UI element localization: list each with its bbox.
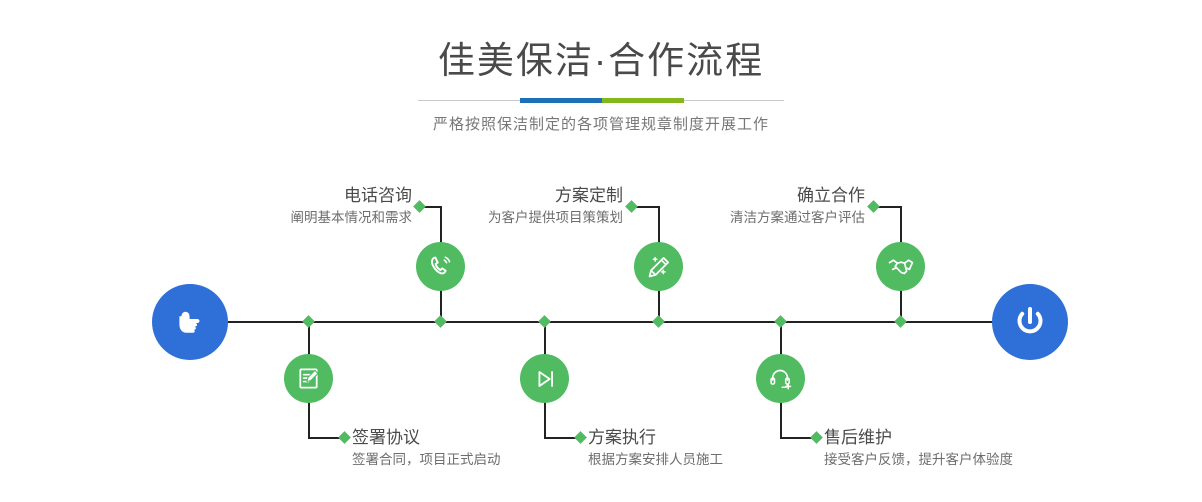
marker-diamond-step-1-axis <box>434 315 447 328</box>
handshake-icon <box>887 253 915 281</box>
step-6-icon-node <box>756 354 805 403</box>
step-5-title: 确立合作 <box>697 185 865 207</box>
play-skip-icon <box>532 366 558 392</box>
step-3-label: 方案定制 为客户提供项目策策划 <box>455 185 623 228</box>
pencil-edit-icon <box>645 253 673 281</box>
process-timeline: 电话咨询 阐明基本情况和需求 签署协议 签署合同，项目正式启动 <box>0 0 1202 502</box>
step-2-icon-node <box>284 354 333 403</box>
marker-diamond-step-2-axis <box>302 315 315 328</box>
step-6-title: 售后维护 <box>824 427 1013 449</box>
step-2-title: 签署协议 <box>352 427 501 449</box>
marker-diamond-step-4-axis <box>538 315 551 328</box>
step-3-desc: 为客户提供项目策策划 <box>455 208 623 228</box>
power-icon <box>1009 301 1051 343</box>
step-4-desc: 根据方案安排人员施工 <box>588 450 723 470</box>
pointing-hand-icon <box>170 302 210 342</box>
step-1-icon-node <box>416 242 465 291</box>
marker-diamond-step-6-label <box>810 431 823 444</box>
step-3-icon-node <box>634 242 683 291</box>
step-2-label: 签署协议 签署合同，项目正式启动 <box>352 427 501 470</box>
step-4-label: 方案执行 根据方案安排人员施工 <box>588 427 723 470</box>
step-4-title: 方案执行 <box>588 427 723 449</box>
marker-diamond-step-3-label <box>625 200 638 213</box>
phone-call-icon <box>427 253 455 281</box>
step-1-title: 电话咨询 <box>244 185 412 207</box>
marker-diamond-step-5-axis <box>894 315 907 328</box>
marker-diamond-step-2-label <box>338 431 351 444</box>
marker-diamond-step-5-label <box>867 200 880 213</box>
step-1-desc: 阐明基本情况和需求 <box>244 208 412 228</box>
document-pen-icon <box>295 365 322 392</box>
timeline-start-node <box>152 284 228 360</box>
step-6-label: 售后维护 接受客户反馈，提升客户体验度 <box>824 427 1013 470</box>
step-5-desc: 清洁方案通过客户评估 <box>697 208 865 228</box>
marker-diamond-step-6-axis <box>774 315 787 328</box>
step-3-title: 方案定制 <box>455 185 623 207</box>
step-4-icon-node <box>520 354 569 403</box>
marker-diamond-step-3-axis <box>652 315 665 328</box>
step-5-icon-node <box>876 242 925 291</box>
headset-plus-icon <box>767 365 794 392</box>
step-2-desc: 签署合同，项目正式启动 <box>352 450 501 470</box>
step-6-desc: 接受客户反馈，提升客户体验度 <box>824 450 1013 470</box>
step-5-label: 确立合作 清洁方案通过客户评估 <box>697 185 865 228</box>
step-1-label: 电话咨询 阐明基本情况和需求 <box>244 185 412 228</box>
marker-diamond-step-1-label <box>413 200 426 213</box>
marker-diamond-step-4-label <box>574 431 587 444</box>
timeline-end-node <box>992 284 1068 360</box>
